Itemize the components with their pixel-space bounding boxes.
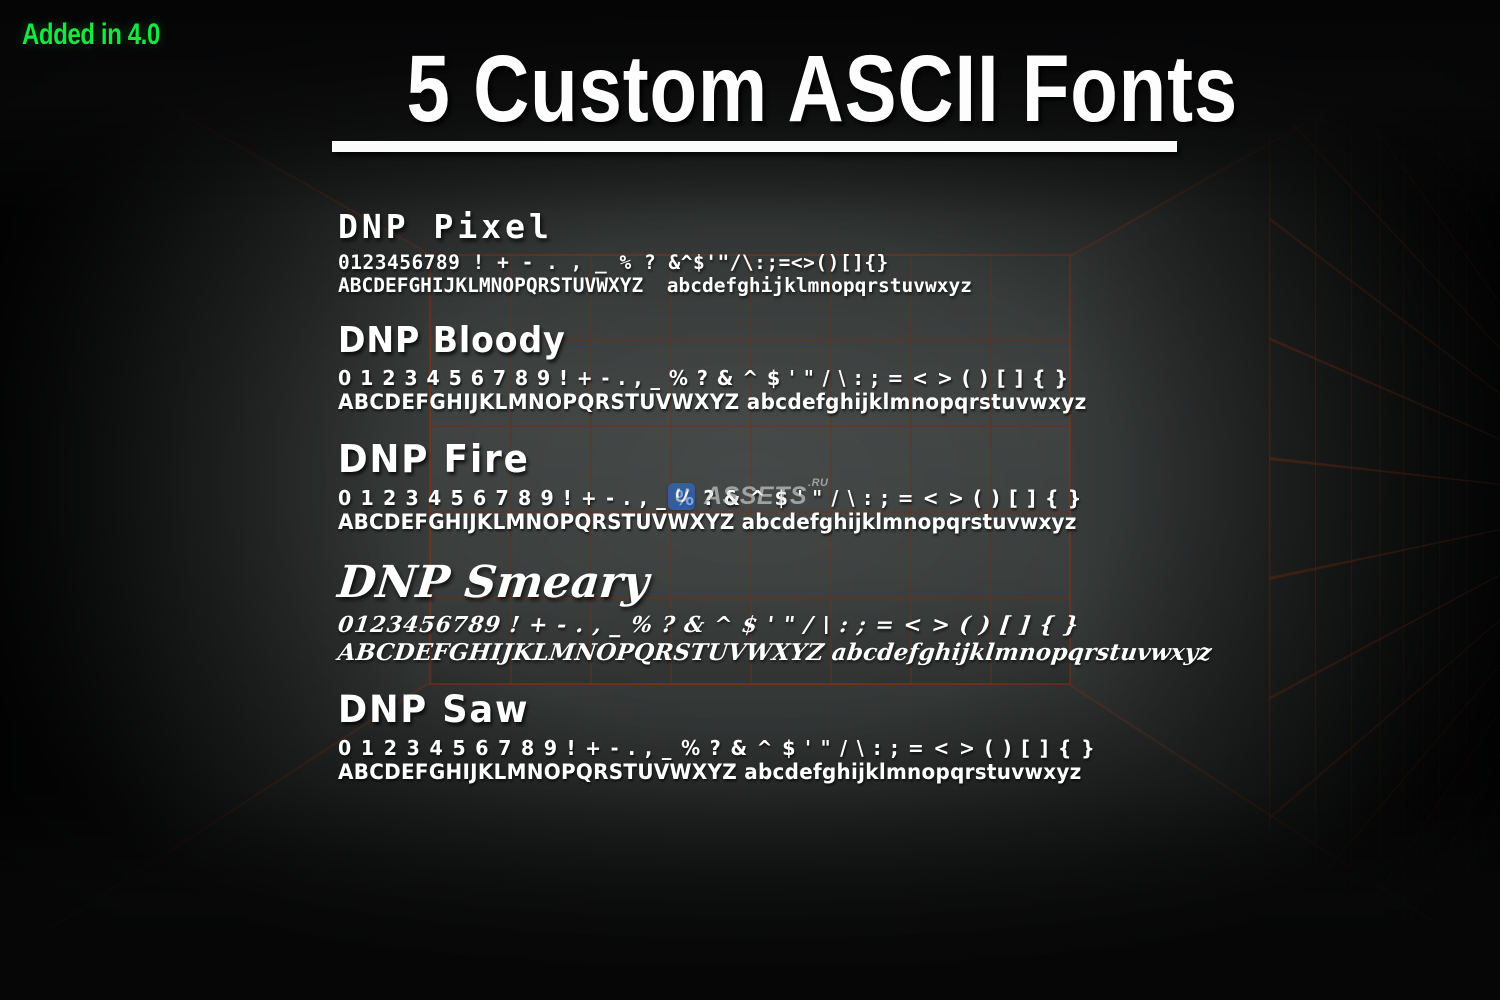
font-alphabet-lower: abcdefghijklmnopqrstuvwxyz <box>742 510 1077 534</box>
version-badge: Added in 4.0 <box>22 18 160 52</box>
font-name-label: DNP Fire <box>338 440 1400 480</box>
font-alphabet-upper: ABCDEFGHIJKLMNOPQRSTUVWXYZ <box>338 390 739 414</box>
font-alphabet-line: ABCDEFGHIJKLMNOPQRSTUVWXYZ abcdefghijklm… <box>338 390 1412 416</box>
font-name-label: DNP Smeary <box>336 560 1471 606</box>
title-block: 5 Custom ASCII Fonts <box>330 42 1180 137</box>
font-alphabet-line: ABCDEFGHIJKLMNOPQRSTUVWXYZ abcdefghijklm… <box>338 274 1468 298</box>
font-sample-dnp-saw: DNP Saw 0 1 2 3 4 5 6 7 8 9 ! + - . , _ … <box>338 691 1468 786</box>
font-alphabet-upper: ABCDEFGHIJKLMNOPQRSTUVWXYZ <box>338 274 643 297</box>
overlay-content: Added in 4.0 5 Custom ASCII Fonts DNP Pi… <box>0 0 1500 1000</box>
title-underline <box>332 141 1177 152</box>
font-glyph-line: 0123456789 ! + - . , _ % ? &^$'"/\:;=<>(… <box>338 251 1468 275</box>
page-title: 5 Custom ASCII Fonts <box>407 42 1104 137</box>
font-alphabet-lower: abcdefghijklmnopqrstuvwxyz <box>747 390 1087 414</box>
font-glyph-line: 0 1 2 3 4 5 6 7 8 9 ! + - . , _ % ? & ^ … <box>338 736 1412 760</box>
font-glyph-line: 0123456789 ! + - . , _ % ? & ^ $ ' " / \… <box>336 612 1469 639</box>
font-alphabet-upper: ABCDEFGHIJKLMNOPQRSTUVWXYZ <box>338 510 735 534</box>
font-alphabet-lower: abcdefghijklmnopqrstuvwxyz <box>830 639 1213 666</box>
font-alphabet-line: ABCDEFGHIJKLMNOPQRSTUVWXYZ abcdefghijklm… <box>338 510 1412 536</box>
font-alphabet-line: ABCDEFGHIJKLMNOPQRSTUVWXYZ abcdefghijklm… <box>336 639 1469 667</box>
font-sample-dnp-smeary: DNP Smeary 0123456789 ! + - . , _ % ? & … <box>338 560 1468 667</box>
font-alphabet-lower: abcdefghijklmnopqrstuvwxyz <box>667 274 972 297</box>
font-glyph-line: 0 1 2 3 4 5 6 7 8 9 ! + - . , _ % ? & ^ … <box>338 366 1412 390</box>
font-sample-dnp-fire: DNP Fire 0 1 2 3 4 5 6 7 8 9 ! + - . , _… <box>338 440 1468 536</box>
font-sample-dnp-pixel: DNP Pixel 0123456789 ! + - . , _ % ? &^$… <box>338 210 1468 298</box>
font-alphabet-upper: ABCDEFGHIJKLMNOPQRSTUVWXYZ <box>338 760 737 784</box>
font-sample-dnp-bloody: DNP Bloody 0 1 2 3 4 5 6 7 8 9 ! + - . ,… <box>338 322 1468 416</box>
font-name-label: DNP Saw <box>338 691 1412 730</box>
font-sample-list: DNP Pixel 0123456789 ! + - . , _ % ? &^$… <box>338 210 1468 810</box>
font-alphabet-upper: ABCDEFGHIJKLMNOPQRSTUVWXYZ <box>336 639 825 666</box>
font-name-label: DNP Bloody <box>338 322 1378 360</box>
font-alphabet-lower: abcdefghijklmnopqrstuvwxyz <box>744 760 1081 784</box>
font-glyph-line: 0 1 2 3 4 5 6 7 8 9 ! + - . , _ % ? & ^ … <box>338 486 1412 510</box>
font-name-label: DNP Pixel <box>338 210 1468 245</box>
font-alphabet-line: ABCDEFGHIJKLMNOPQRSTUVWXYZ abcdefghijklm… <box>338 760 1412 786</box>
